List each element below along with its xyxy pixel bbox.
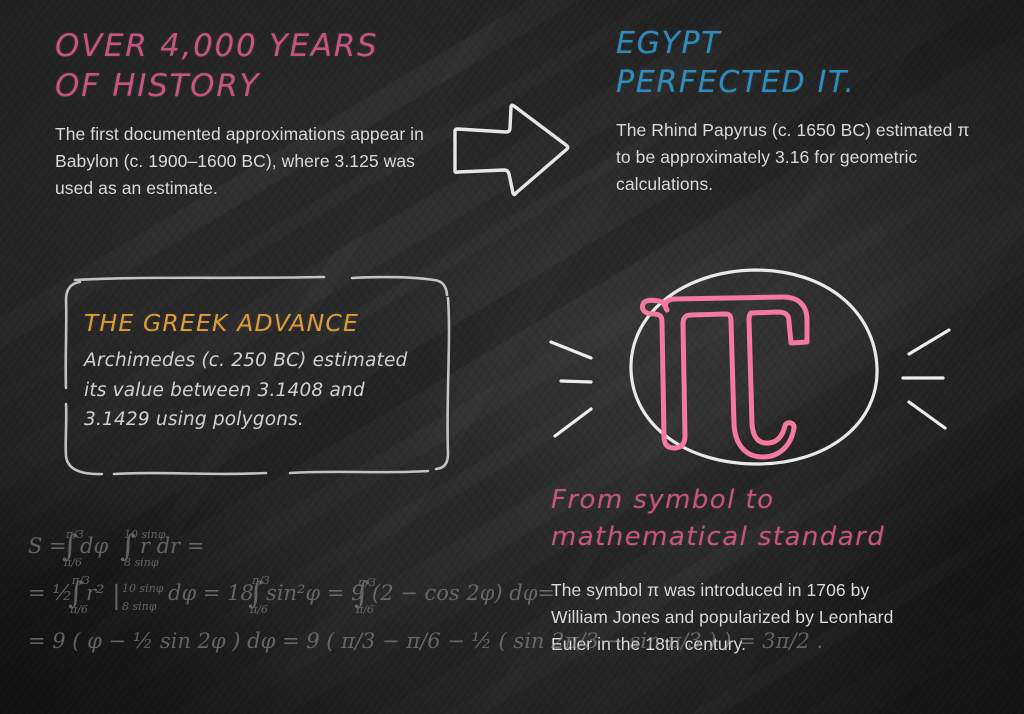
history-heading-line-1: OVER 4,000 YEARS xyxy=(55,26,440,66)
egypt-heading-line-2: PERFECTED IT. xyxy=(616,63,976,102)
history-heading: OVER 4,000 YEARS OF HISTORY xyxy=(55,26,440,107)
formula-integral-3: ∫ xyxy=(68,576,84,611)
symbol-heading: From symbol to mathematical standard xyxy=(551,482,931,556)
formula-integral-1: ∫ xyxy=(62,529,78,564)
symbol-heading-line-1: From symbol to xyxy=(551,482,931,519)
formula-integral-2: ∫ xyxy=(120,529,136,564)
egypt-heading-line-1: EGYPT xyxy=(616,24,976,63)
greek-heading: THE GREEK ADVANCE xyxy=(84,308,414,339)
formula-bar: | xyxy=(112,581,121,611)
formula-dphi-1: dφ xyxy=(80,534,108,558)
formula-sinsq: sin²φ = 9 xyxy=(266,581,364,605)
formula-integral-5: ∫ xyxy=(354,576,370,611)
greek-body-text: Archimedes (c. 250 BC) estimated its val… xyxy=(84,346,414,436)
chalk-formula-derivation: S = π/3 π/6 ∫ dφ 10 sinφ 8 sinφ ∫ r dr =… xyxy=(28,518,478,668)
egypt-body-text: The Rhind Papyrus (c. 1650 BC) estimated… xyxy=(616,117,976,198)
section-history: OVER 4,000 YEARS OF HISTORY The first do… xyxy=(55,26,440,202)
formula-rdr: r dr = xyxy=(140,534,204,558)
emblem-rays-right xyxy=(903,330,949,428)
formula-cos-term: (2 − cos 2φ) dφ= xyxy=(372,581,555,605)
formula-line-3: = 9 ( φ − ½ sin 2φ ) dφ = 9 ( π/3 − π/6 … xyxy=(28,629,823,653)
egypt-heading: EGYPT PERFECTED IT. xyxy=(616,24,976,102)
emblem-rays-left xyxy=(551,342,591,436)
formula-inner-upper-2: 10 sinφ xyxy=(122,582,164,595)
history-heading-line-2: OF HISTORY xyxy=(55,66,440,106)
pi-emblem xyxy=(545,266,955,478)
formula-dphi-2: dφ = 18 xyxy=(168,581,254,605)
formula-line-2: = ½ xyxy=(28,581,73,605)
formula-integral-4: ∫ xyxy=(248,576,264,611)
formula-line-1: S = xyxy=(28,534,67,558)
card-greek-advance: THE GREEK ADVANCE Archimedes (c. 250 BC)… xyxy=(62,278,452,474)
formula-rsq: r² xyxy=(86,581,104,605)
arrow-right-icon xyxy=(452,104,572,196)
arrow-outline xyxy=(455,105,568,194)
formula-inner-lower-2: 8 sinφ xyxy=(122,600,157,613)
symbol-heading-line-2: mathematical standard xyxy=(551,519,931,556)
history-body-text: The first documented approximations appe… xyxy=(55,121,440,202)
section-egypt: EGYPT PERFECTED IT. The Rhind Papyrus (c… xyxy=(616,24,976,198)
pi-glyph xyxy=(642,297,807,457)
